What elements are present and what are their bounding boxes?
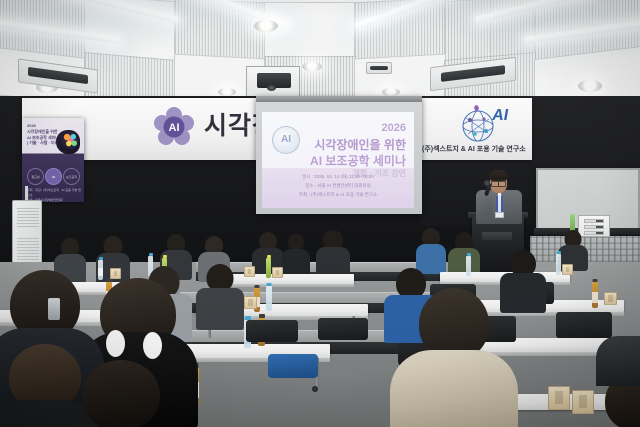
- slide-globe-label: AI: [273, 134, 299, 145]
- ceiling: [0, 0, 640, 108]
- bottle-label: [592, 292, 598, 303]
- glasses-icon: [491, 180, 506, 184]
- person-body: [196, 288, 244, 330]
- audience-person: [282, 234, 310, 276]
- audience-person-cardigan: [390, 288, 518, 427]
- bottle-cap: [557, 251, 561, 254]
- presentation-slide: AI 2026 시각장애인을 위한 AI 보조공학 세미나 개회 · 기조 강연…: [262, 112, 414, 208]
- poster-badge: 보조공학: [63, 168, 80, 185]
- seminar-photo-scene: AI 시각장 미나 AI (주)섹스트지 & AI 포용 기술 연구소 AI 2…: [0, 0, 640, 427]
- water-bottle: [556, 254, 561, 275]
- downlight: [218, 88, 236, 96]
- person-body: [282, 249, 310, 277]
- audience-person: [448, 232, 480, 276]
- slide-heading-1: 시각장애인을 위한: [314, 136, 406, 153]
- poster-title-line: | 기술 · 사람 · 미래: [27, 140, 58, 145]
- slide-detail-line: 주최 : (주)섹스트지 & AI 포용 기술 연구소: [262, 192, 414, 198]
- ai-flower-logo-icon: AI: [152, 106, 196, 150]
- snack-box: [244, 296, 257, 309]
- ac-vent: [366, 62, 392, 74]
- poster-title: 2026 시각장애인을 위한 AI 보조공학 세미나 | 기술 · 사람 · 미…: [27, 123, 59, 146]
- snack-box: [562, 264, 573, 275]
- poster-badge: AI: [45, 168, 62, 185]
- downlight: [578, 80, 602, 92]
- microphone-head-icon: [484, 180, 490, 186]
- table-caster: [312, 386, 318, 392]
- svg-text:AI: AI: [169, 122, 180, 134]
- bottle-cap: [593, 279, 598, 282]
- audience-person: [316, 230, 350, 276]
- poster-title-line: 2026: [27, 123, 36, 128]
- person-body: [596, 336, 640, 386]
- audience-person: [596, 336, 640, 386]
- juice-bottle: [266, 258, 271, 278]
- screen-roller-bar: [256, 96, 422, 102]
- bottle-cap: [99, 257, 103, 260]
- svg-text:AI: AI: [491, 106, 510, 124]
- bottle-cap: [255, 285, 260, 288]
- snack-box: [604, 292, 617, 305]
- chair: [556, 312, 612, 338]
- podium-nameplate: [482, 232, 512, 240]
- bottle-cap: [163, 255, 167, 258]
- slide-year: 2026: [382, 122, 406, 134]
- ceiling-tile: [264, 2, 356, 58]
- tea-bottle: [592, 282, 598, 308]
- chair: [246, 320, 298, 342]
- slide-detail-line: 장소 : 서울 AI 컨벤션센터 대회의실: [262, 183, 414, 189]
- av-indicator: [584, 225, 604, 229]
- projector-lens-icon: [267, 85, 276, 91]
- audience-person: [62, 360, 180, 427]
- water-bottle: [266, 286, 272, 311]
- banner-subtitle: (주)섹스트지 & AI 포용 기술 연구소: [422, 144, 526, 154]
- bottle-cap: [267, 283, 272, 286]
- audience-person: [416, 228, 446, 272]
- smartphone-icon: [48, 298, 60, 320]
- ai-globe-logo-icon: AI: [454, 100, 518, 144]
- downlight: [302, 62, 322, 71]
- table-edge: [226, 284, 354, 287]
- av-indicator: [584, 219, 604, 223]
- snack-box: [244, 266, 255, 277]
- chair: [318, 318, 368, 340]
- hoodie-eye-icon: [106, 330, 125, 357]
- slide-globe-icon: AI: [272, 126, 300, 154]
- snack-box: [272, 267, 283, 278]
- bottle-cap: [259, 314, 265, 318]
- hoodie-eye-icon: [143, 332, 162, 359]
- bottle-cap: [467, 253, 471, 256]
- bottle-cap: [149, 253, 153, 256]
- chair-blue: [268, 354, 318, 378]
- slide-detail-line: 일시 : 2026. 04. 14 (화) 11:00~18:00: [262, 174, 414, 180]
- snack-box: [572, 390, 594, 414]
- audience-person: [196, 264, 244, 326]
- event-poster: 2026 시각장애인을 위한 AI 보조공학 세미나 | 기술 · 사람 · 미…: [22, 118, 84, 202]
- slide-heading-2: AI 보조공학 세미나: [310, 152, 406, 169]
- snack-box: [548, 386, 570, 410]
- person-body: [390, 350, 518, 427]
- speaker-name-badge: [495, 212, 504, 218]
- person-head: [82, 360, 160, 427]
- water-bottle: [466, 256, 471, 276]
- downlight: [254, 20, 278, 32]
- poster-badge: 접근성: [27, 168, 44, 185]
- poster-title-line: AI 보조공학 세미나: [27, 135, 59, 140]
- poster-brain-network-icon: [62, 132, 79, 149]
- downlight: [382, 88, 400, 96]
- bottle-cap: [267, 255, 271, 258]
- projector-lift-box: [246, 66, 300, 100]
- poster-title-line: 시각장애인을 위한: [27, 129, 58, 134]
- poster-footer-line: 주최 · 주관 : (주)섹스트지 · AI 포용 기술 연구소: [27, 188, 81, 197]
